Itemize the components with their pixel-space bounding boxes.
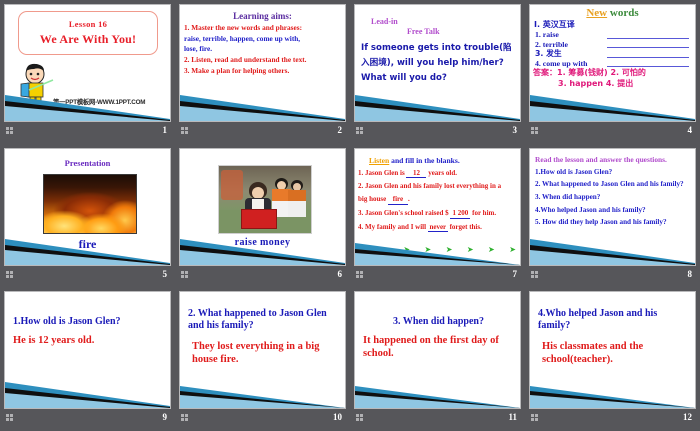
slide-footer-3: 3 <box>354 122 521 143</box>
ribbon-decoration <box>5 374 170 408</box>
page-number: 12 <box>683 412 692 422</box>
page-number: 5 <box>163 269 168 279</box>
arrow-icon: ➤ <box>446 245 453 254</box>
slide-footer-5: 5 <box>4 266 171 287</box>
q1-pre: 1. Jason Glen is <box>358 169 405 177</box>
slide-11[interactable]: 3. When did happen? It happened on the f… <box>354 291 521 409</box>
slide-footer-10: 10 <box>179 409 346 430</box>
new-words-heading: New words <box>530 7 695 19</box>
slide-cell-10[interactable]: 2. What happened to Jason Glen and his f… <box>175 287 350 431</box>
slide-4[interactable]: New words Ⅰ. 英汉互译 1. raise 2. terrible 3… <box>529 4 696 122</box>
page-number: 10 <box>333 412 342 422</box>
q3-pre: 3. Jason Glen's school raised $ <box>358 209 449 217</box>
question-text: 1.How old is Jason Glen? <box>13 316 164 328</box>
slide-footer-2: 2 <box>179 122 346 143</box>
page-number: 3 <box>513 125 518 135</box>
ribbon-decoration <box>530 87 695 121</box>
aim-line-5: 3. Make a plan for helping others. <box>184 66 345 76</box>
q1-blank: 12 <box>406 169 426 179</box>
word-item-4: 4. come up with <box>535 59 695 69</box>
answer-text: It happened on the first day of school. <box>363 335 514 360</box>
read-lesson-heading: Read the lesson and answer the questions… <box>535 155 695 164</box>
answer-blank-line <box>607 47 689 48</box>
qa-block: 2. What happened to Jason Glen and his f… <box>188 308 339 366</box>
listen-word: Listen <box>369 156 389 165</box>
q3-blank: 1 200 <box>450 209 470 219</box>
qa-block: 4.Who helped Jason and his family? His c… <box>538 308 689 366</box>
ribbon-decoration <box>530 231 695 265</box>
watermark-text: 第一PPT模板网-WWW.1PPT.COM <box>53 97 145 106</box>
page-number: 2 <box>338 125 343 135</box>
word-list: 1. raise 2. terrible 3. 发生 4. come up wi… <box>530 30 695 68</box>
word-text: 4. come up with <box>535 59 587 68</box>
reading-question-4: 4.Who helped Jason and his family? <box>535 206 695 215</box>
learning-aims-heading: Learning aims: <box>180 11 345 21</box>
word-item-2: 2. terrible <box>535 40 695 50</box>
page-number: 11 <box>508 412 517 422</box>
slide-footer-7: 7 <box>354 266 521 287</box>
word-item-1: 1. raise <box>535 30 695 40</box>
slide-footer-11: 11 <box>354 409 521 430</box>
slide-cell-5[interactable]: Presentation fire 5 <box>0 144 175 288</box>
slide-footer-12: 12 <box>529 409 696 430</box>
qa-block: 1.How old is Jason Glen? He is 12 years … <box>13 316 164 348</box>
word-text: 3. 发生 <box>535 49 562 58</box>
slide-footer-1: 1 <box>4 122 171 143</box>
q4-pre: 4. My family and I will <box>358 223 426 231</box>
arrow-icon: ➤ <box>425 245 432 254</box>
q2-blank: fire <box>388 195 408 205</box>
new-words-heading-words: words <box>610 7 639 19</box>
q3-post: for him. <box>472 209 496 217</box>
answer-text: His classmates and the school(teacher). <box>538 341 689 366</box>
caption-fire: fire <box>5 237 170 252</box>
slide-9[interactable]: 1.How old is Jason Glen? He is 12 years … <box>4 291 171 409</box>
question-text: 4.Who helped Jason and his family? <box>538 308 689 332</box>
slide-cell-1[interactable]: Lesson 16 We Are With You! 第一PPT模板网-WWW.… <box>0 0 175 144</box>
discussion-question: If someone gets into trouble(陷入困境), will… <box>361 41 516 86</box>
lead-in-label: Lead-in <box>371 17 398 26</box>
q2-post: . <box>408 195 410 203</box>
grid-icon <box>181 414 190 423</box>
ribbon-decoration <box>530 374 695 408</box>
page-number: 4 <box>688 125 693 135</box>
listen-heading-rest: and fill in the blanks. <box>389 156 459 165</box>
slide-cell-2[interactable]: Learning aims: 1. Master the new words a… <box>175 0 350 144</box>
aim-line-4: 2. Listen, read and understand the text. <box>184 55 345 65</box>
slide-3[interactable]: Lead-in Free Talk If someone gets into t… <box>354 4 521 122</box>
slide-cell-9[interactable]: 1.How old is Jason Glen? He is 12 years … <box>0 287 175 431</box>
slide-cell-4[interactable]: New words Ⅰ. 英汉互译 1. raise 2. terrible 3… <box>525 0 700 144</box>
slide-footer-4: 4 <box>529 122 696 143</box>
page-number: 1 <box>163 125 168 135</box>
slide-12[interactable]: 4.Who helped Jason and his family? His c… <box>529 291 696 409</box>
page-number: 7 <box>513 269 518 279</box>
reading-question-1: 1.How old is Jason Glen? <box>535 168 695 177</box>
aim-line-2: raise, terrible, happen, come up with, <box>184 34 345 44</box>
arrow-icon: ➤ <box>403 245 410 254</box>
page-number: 6 <box>338 269 343 279</box>
arrow-icon: ➤ <box>488 245 495 254</box>
arrow-icon: ➤ <box>382 245 389 254</box>
q4-blank: never <box>428 223 448 233</box>
slide-thumbnail-grid: Lesson 16 We Are With You! 第一PPT模板网-WWW.… <box>0 0 700 431</box>
grid-icon <box>356 127 365 136</box>
word-item-3: 3. 发生 <box>535 49 695 59</box>
reading-question-5: 5. How did they help Jason and his famil… <box>535 218 695 227</box>
slide-cell-12[interactable]: 4.Who helped Jason and his family? His c… <box>525 287 700 431</box>
grid-icon <box>181 127 190 136</box>
aim-line-3: lose, fire. <box>184 44 345 54</box>
reading-question-2: 2. What happened to Jason Glen and his f… <box>535 180 695 189</box>
children-donation-photo <box>218 165 312 234</box>
ribbon-decoration <box>355 87 520 121</box>
new-words-heading-new: New <box>586 7 607 19</box>
grid-icon <box>356 271 365 280</box>
qa-block: 3. When did happen? It happened on the f… <box>363 316 514 360</box>
page-number: 8 <box>688 269 693 279</box>
answer-blank-line <box>607 57 689 58</box>
lesson-label: Lesson 16 <box>19 19 157 29</box>
title-box: Lesson 16 We Are With You! <box>18 11 158 55</box>
fill-blank-2b: big house fire. <box>358 195 520 205</box>
free-talk-label: Free Talk <box>407 27 440 36</box>
ribbon-decoration <box>355 374 520 408</box>
q1-post: years old. <box>428 169 457 177</box>
fill-blank-4: 4. My family and I will never forget thi… <box>358 223 520 233</box>
q2-pre: big house <box>358 195 386 203</box>
slide-10[interactable]: 2. What happened to Jason Glen and his f… <box>179 291 346 409</box>
arrow-icon: ➤ <box>361 245 368 254</box>
answer-blank-line <box>607 66 689 67</box>
presentation-heading: Presentation <box>5 158 170 168</box>
page-number: 9 <box>163 412 168 422</box>
grid-icon <box>181 271 190 280</box>
slide-7[interactable]: Listen and fill in the blanks. 1. Jason … <box>354 148 521 266</box>
caption-raise-money: raise money <box>180 237 345 248</box>
answer-line-1: 答案：1. 筹募(钱财) 2. 可怕的 <box>530 68 695 78</box>
slide-6[interactable]: raise money <box>179 148 346 266</box>
answer-blank-line <box>607 38 689 39</box>
question-text: 2. What happened to Jason Glen and his f… <box>188 308 339 332</box>
q2-line1: 2. Jason Glen and his family lost everyt… <box>358 182 501 190</box>
grid-icon <box>356 414 365 423</box>
cartoon-boy-icon <box>17 63 57 109</box>
slide-1[interactable]: Lesson 16 We Are With You! 第一PPT模板网-WWW.… <box>4 4 171 122</box>
ribbon-decoration <box>180 374 345 408</box>
slide-8[interactable]: Read the lesson and answer the questions… <box>529 148 696 266</box>
section-label: Ⅰ. 英汉互译 <box>530 19 695 30</box>
grid-icon <box>531 271 540 280</box>
slide-2[interactable]: Learning aims: 1. Master the new words a… <box>179 4 346 122</box>
grid-icon <box>6 271 15 280</box>
slide-footer-6: 6 <box>179 266 346 287</box>
arrow-icon: ➤ <box>467 245 474 254</box>
q4-post: forget this. <box>450 223 482 231</box>
listen-heading: Listen and fill in the blanks. <box>369 156 520 165</box>
slide-cell-7[interactable]: Listen and fill in the blanks. 1. Jason … <box>350 144 525 288</box>
grid-icon <box>6 127 15 136</box>
slide-cell-3[interactable]: Lead-in Free Talk If someone gets into t… <box>350 0 525 144</box>
slide-cell-11[interactable]: 3. When did happen? It happened on the f… <box>350 287 525 431</box>
grid-icon <box>531 127 540 136</box>
arrow-decorations: ➤➤ ➤➤ ➤➤ ➤➤ <box>361 245 516 254</box>
ribbon-decoration <box>180 87 345 121</box>
answer-text: They lost everything in a big house fire… <box>188 341 339 366</box>
reading-question-3: 3. When did happen? <box>535 193 695 202</box>
grid-icon <box>531 414 540 423</box>
question-text: 3. When did happen? <box>363 316 514 328</box>
slide-5[interactable]: Presentation fire <box>4 148 171 266</box>
answer-text: He is 12 years old. <box>13 335 164 348</box>
fill-blank-2: 2. Jason Glen and his family lost everyt… <box>358 182 520 191</box>
arrow-icon: ➤ <box>509 245 516 254</box>
slide-footer-8: 8 <box>529 266 696 287</box>
aim-line-1: 1. Master the new words and phrases: <box>184 23 345 33</box>
page-title: We Are With You! <box>19 32 157 47</box>
fill-blank-3: 3. Jason Glen's school raised $ 1 200 fo… <box>358 209 520 219</box>
answer-line-2: 3. happen 4. 提出 <box>530 78 695 89</box>
grid-icon <box>6 414 15 423</box>
fire-photo <box>43 174 137 234</box>
word-text: 1. raise <box>535 30 559 39</box>
slide-cell-8[interactable]: Read the lesson and answer the questions… <box>525 144 700 288</box>
slide-cell-6[interactable]: raise money 6 <box>175 144 350 288</box>
slide-footer-9: 9 <box>4 409 171 430</box>
fill-blank-1: 1. Jason Glen is 12 years old. <box>358 169 520 179</box>
word-text: 2. terrible <box>535 40 568 49</box>
